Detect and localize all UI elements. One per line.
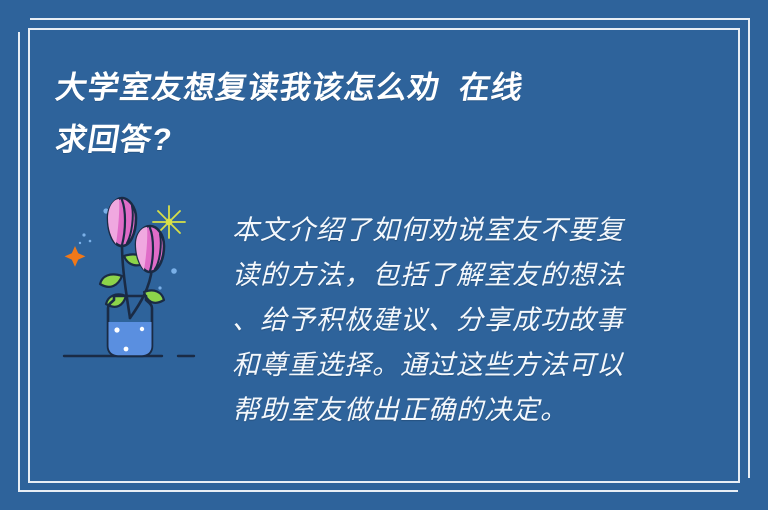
- title-line-1: 大学室友想复读我该怎么劝 在线: [52, 62, 710, 114]
- body-line-5: 帮助室友做出正确的决定。: [232, 388, 652, 433]
- tulips-in-vase-illustration: [60, 196, 212, 374]
- frame-corner-mask-bottom-right-vertical: [744, 478, 754, 510]
- body-line-3: 、给予积极建议、分享成功故事: [232, 298, 652, 343]
- title-line-2: 求回答?: [52, 114, 710, 166]
- body-line-1: 本文介绍了如何劝说室友不要复: [232, 208, 652, 253]
- page-title: 大学室友想复读我该怎么劝 在线 求回答?: [52, 62, 702, 166]
- frame-corner-mask-top-left-vertical: [14, 0, 24, 32]
- body-line-2: 读的方法，包括了解室友的想法: [232, 253, 652, 298]
- body-text: 本文介绍了如何劝说室友不要复 读的方法，包括了解室友的想法 、给予积极建议、分享…: [232, 208, 652, 433]
- body-line-4: 和尊重选择。通过这些方法可以: [232, 343, 652, 388]
- frame-corner-mask-bottom-right-horizontal: [738, 486, 768, 496]
- frame-corner-mask-top-left-horizontal: [0, 14, 30, 24]
- tulip-bloom-left-icon: [108, 198, 136, 246]
- tulip-bloom-right-icon: [136, 226, 164, 272]
- poster-canvas: 大学室友想复读我该怎么劝 在线 求回答?: [0, 0, 768, 510]
- sparkle-orange-icon: [65, 246, 86, 267]
